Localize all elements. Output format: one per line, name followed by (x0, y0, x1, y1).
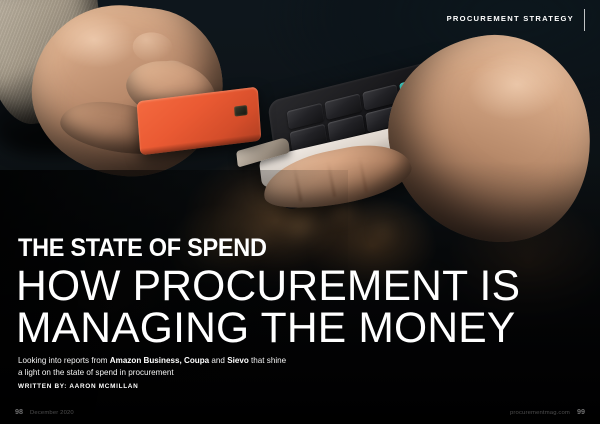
issue-date: December 2020 (30, 410, 74, 416)
magazine-spread: PROCUREMENT STRATEGY THE STATE OF SPEND … (0, 0, 600, 424)
standfirst-text-1: Looking into reports from (18, 356, 110, 365)
knuckle-highlight (131, 30, 174, 64)
standfirst-brand-1: Amazon Business, Coupa (110, 356, 209, 365)
page-number-left: 98 (15, 407, 23, 416)
publication-url: procurementmag.com (510, 410, 570, 416)
article-headline: HOW PROCUREMENT IS MANAGING THE MONEY (16, 266, 594, 350)
card-chip (234, 105, 248, 117)
footer-right: procurementmag.com 99 (510, 407, 585, 416)
article-byline: WRITTEN BY: AARON MCMILLAN (18, 383, 138, 390)
standfirst-brand-2: Sievo (227, 356, 249, 365)
page-number-right: 99 (577, 407, 585, 416)
footer-left: 98 December 2020 (15, 407, 74, 416)
standfirst-text-2: and (209, 356, 227, 365)
headline-line-2: MANAGING THE MONEY (16, 308, 588, 349)
headline-line-1: HOW PROCUREMENT IS (16, 266, 588, 307)
section-kicker: PROCUREMENT STRATEGY (447, 14, 574, 23)
article-standfirst: Looking into reports from Amazon Busines… (18, 355, 288, 379)
kicker-divider-rule (584, 9, 585, 31)
article-eyebrow: THE STATE OF SPEND (18, 236, 267, 261)
